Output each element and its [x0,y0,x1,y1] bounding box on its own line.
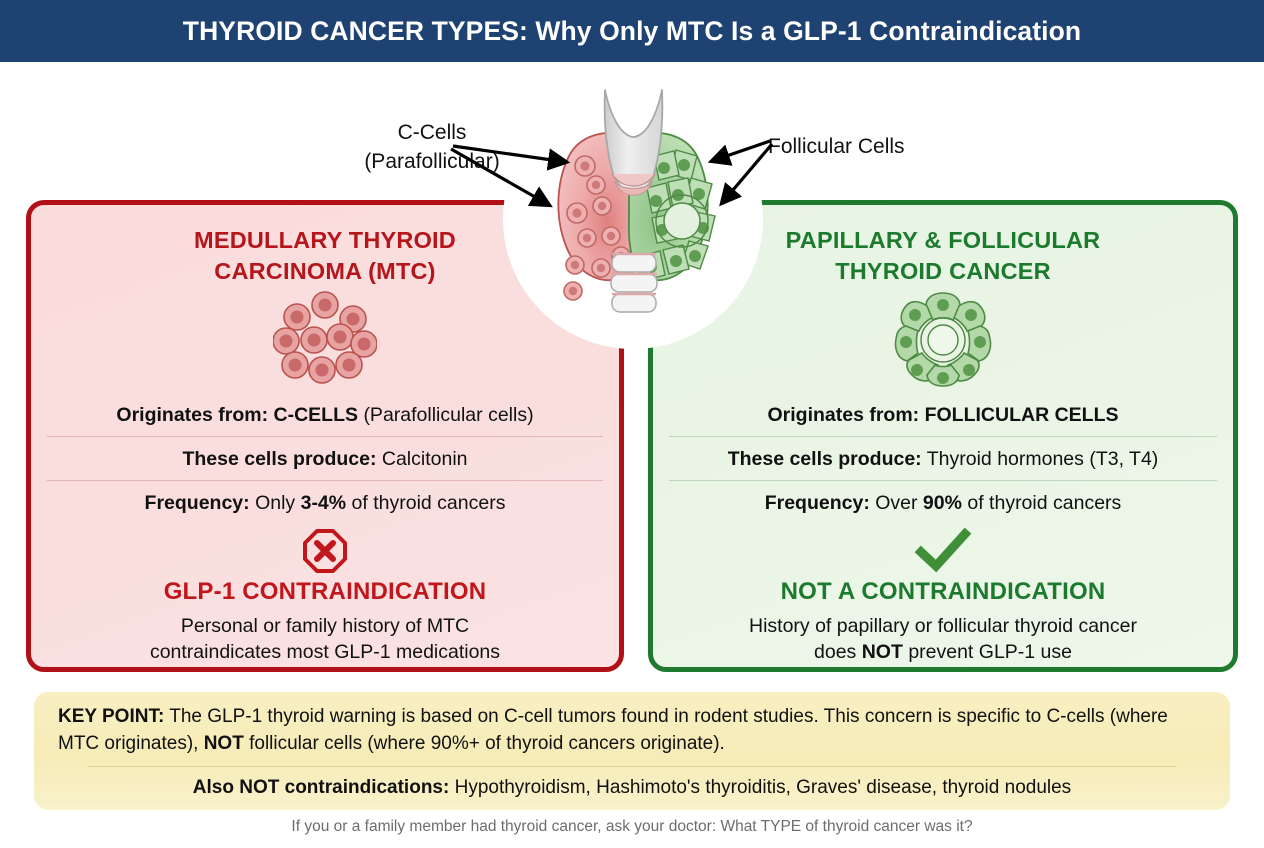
key-point-text-b: follicular cells (where 90%+ of thyroid … [249,733,725,754]
check-icon [653,526,1233,576]
fact-pre: Over [875,492,917,514]
fact-rest: Thyroid hormones (T3, T4) [927,448,1159,470]
left-verdict-line2: contraindicates most GLP-1 medications [51,639,599,665]
page-title: THYROID CANCER TYPES: Why Only MTC Is a … [183,16,1081,47]
fact-rest: (Parafollicular cells) [363,404,533,426]
fact-label: Originates from: [116,404,268,426]
label-c-cells: C-Cells (Parafollicular) [322,118,542,176]
fact-label: Frequency: [145,492,250,514]
right-panel-facts: Originates from: FOLLICULAR CELLS These … [653,393,1233,524]
fact-label: Originates from: [767,404,919,426]
label-c-cells-line1: C-Cells [322,118,542,147]
fact-label: Frequency: [765,492,870,514]
key-box-divider [88,766,1176,767]
left-verdict-description: Personal or family history of MTC contra… [31,613,619,665]
fact-pre: Only [255,492,295,514]
fact-row: Originates from: FOLLICULAR CELLS [669,393,1217,436]
infographic-root: THYROID CANCER TYPES: Why Only MTC Is a … [0,0,1264,848]
fact-row: Frequency: Over 90% of thyroid cancers [669,480,1217,524]
label-follicular-cells: Follicular Cells [768,132,998,161]
fact-label: These cells produce: [182,448,376,470]
left-panel-facts: Originates from: C-CELLS (Parafollicular… [31,393,619,524]
fact-row: These cells produce: Thyroid hormones (T… [669,436,1217,480]
fact-strong: C-CELLS [274,404,359,426]
octagon-x-icon [31,526,619,576]
also-not-contraindications-line: Also NOT contraindications: Hypothyroidi… [54,775,1210,802]
footer-note: If you or a family member had thyroid ca… [0,818,1264,836]
also-not-label: Also NOT contraindications: [193,777,450,798]
key-point-box: KEY POINT: The GLP-1 thyroid warning is … [34,692,1230,810]
right-verdict-strong: NOT [862,641,903,663]
fact-rest: of thyroid cancers [352,492,506,514]
fact-rest: of thyroid cancers [967,492,1121,514]
right-verdict-line2: does NOT prevent GLP-1 use [673,639,1213,665]
fact-strong: FOLLICULAR CELLS [925,404,1119,426]
key-point-paragraph: KEY POINT: The GLP-1 thyroid warning is … [54,704,1210,757]
fact-row: Frequency: Only 3-4% of thyroid cancers [47,480,603,524]
fact-rest: Calcitonin [382,448,468,470]
left-verdict-line1: Personal or family history of MTC [51,613,599,639]
fact-strong: 3-4% [301,492,347,514]
also-not-text: Hypothyroidism, Hashimoto's thyroiditis,… [455,777,1072,798]
header-bar: THYROID CANCER TYPES: Why Only MTC Is a … [0,0,1264,62]
fact-strong: 90% [923,492,962,514]
right-verdict-post: prevent GLP-1 use [908,641,1072,663]
fact-row: These cells produce: Calcitonin [47,436,603,480]
fact-row: Originates from: C-CELLS (Parafollicular… [47,393,603,436]
left-verdict-title: GLP-1 CONTRAINDICATION [31,578,619,606]
right-verdict-pre: does [814,641,856,663]
right-verdict-title: NOT A CONTRAINDICATION [653,578,1233,606]
label-follicular-cells-text: Follicular Cells [768,132,998,161]
label-c-cells-line2: (Parafollicular) [322,147,542,176]
key-point-label: KEY POINT: [58,706,164,727]
right-verdict-description: History of papillary or follicular thyro… [653,613,1233,665]
fact-label: These cells produce: [728,448,922,470]
trachea [611,254,657,312]
right-verdict-line1: History of papillary or follicular thyro… [673,613,1213,639]
key-point-strong: NOT [204,733,244,754]
